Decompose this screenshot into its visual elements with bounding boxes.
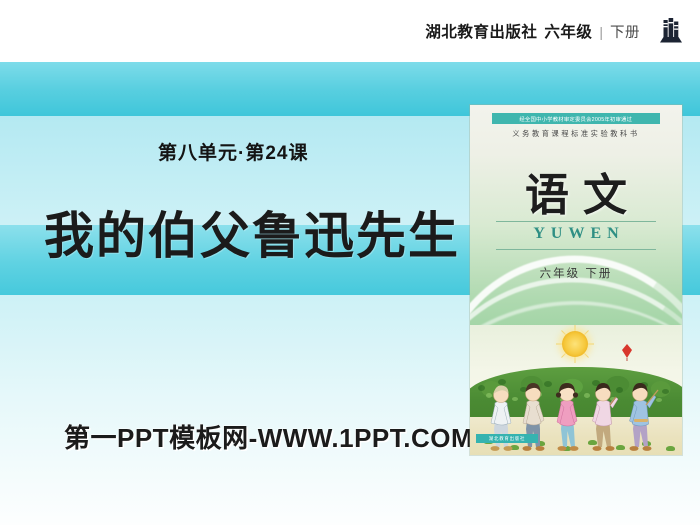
watermark-text: 第一PPT模板网-WWW.1PPT.COM xyxy=(64,418,473,455)
publisher-term: 下册 xyxy=(610,21,640,42)
child-figure-5 xyxy=(624,381,660,451)
publisher-separator: | xyxy=(599,24,603,40)
kite-icon xyxy=(618,343,636,361)
cover-rule-top xyxy=(496,221,656,222)
book-stack-icon xyxy=(656,16,686,46)
publisher-grade: 六年级 xyxy=(544,20,592,42)
page-title: 我的伯父鲁迅先生 xyxy=(44,196,460,268)
publisher-line: 湖北教育出版社 六年级 | 下册 xyxy=(425,20,640,42)
approval-text: 经全国中小学教材审定委员会2005年初审通过 xyxy=(520,115,633,123)
cover-rule-bottom xyxy=(496,249,656,250)
child-figure-3 xyxy=(552,381,582,451)
cover-subject-title: 语文 xyxy=(470,159,682,223)
cover-grade-term: 六年级 下册 xyxy=(470,265,682,281)
slide-header: 湖北教育出版社 六年级 | 下册 xyxy=(0,0,700,62)
approval-strip: 经全国中小学教材审定委员会2005年初审通过 xyxy=(492,113,660,124)
cover-subject-pinyin: YUWEN xyxy=(470,225,682,243)
textbook-cover: 经全国中小学教材审定委员会2005年初审通过 义务教育课程标准实验教科书 语文 … xyxy=(470,105,682,455)
edu-standard-line: 义务教育课程标准实验教科书 xyxy=(470,129,682,139)
child-figure-4 xyxy=(588,381,620,451)
cover-publisher-text: 湖北教育出版社 xyxy=(489,436,525,442)
sun-icon xyxy=(562,331,588,357)
slide-canvas: 湖北教育出版社 六年级 | 下册 第八单元·第24课 我的伯父鲁迅先生 第一PP… xyxy=(0,0,700,525)
cover-publisher-strip: 湖北教育出版社 xyxy=(476,434,538,443)
publisher-name: 湖北教育出版社 xyxy=(425,20,537,42)
cover-illustration: 湖北教育出版社 xyxy=(470,325,682,455)
unit-lesson-label: 第八单元·第24课 xyxy=(158,138,308,165)
